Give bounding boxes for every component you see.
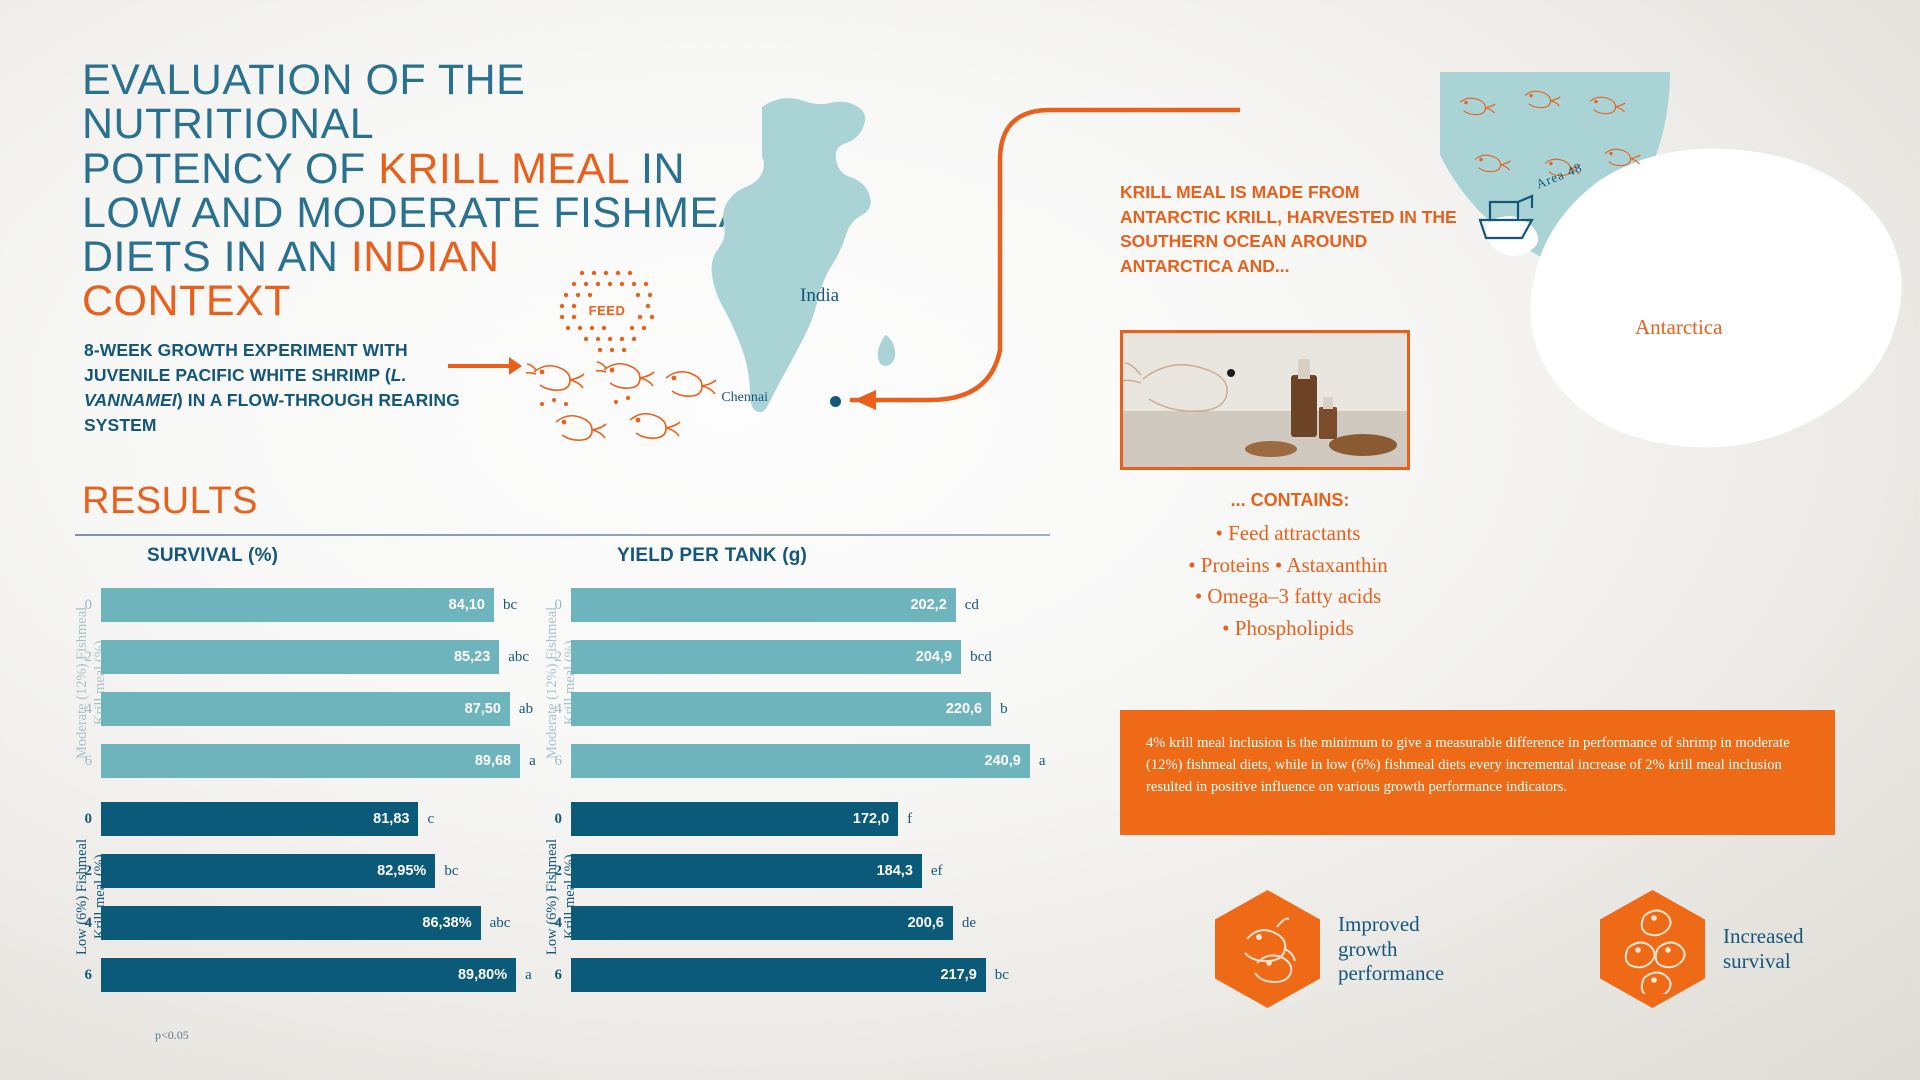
chart-survival-group-low: Low (6%) FishmealKrill meal (%) 0 81,83 … (75, 797, 545, 997)
krill-photo-content-icon (1123, 333, 1410, 470)
outcome-badges: Improvedgrowthperformance (1215, 890, 1915, 1020)
list-item: • Feed attractants (1098, 518, 1478, 550)
title-highlight-indian: INDIAN (351, 233, 500, 281)
significance-label: abc (508, 649, 529, 666)
chart-yield: YIELD PER TANK (g) Moderate (12%) Fishme… (545, 545, 1055, 1005)
bar-row: 2 184,3 ef (545, 849, 1055, 893)
significance-label: abc (490, 915, 511, 932)
significance-label: de (962, 915, 976, 932)
bar: 217,9 (571, 958, 986, 992)
tick-label: 4 (545, 915, 571, 932)
tick-label: 6 (545, 753, 571, 770)
bar-row: 0 172,0 f (545, 797, 1055, 841)
bar: 184,3 (571, 854, 922, 888)
map-label-antarctica: Antarctica (1635, 315, 1722, 340)
hexagon-shape (1215, 890, 1320, 1008)
p-value-note: p<0.05 (155, 1028, 189, 1043)
significance-label: ab (519, 701, 533, 718)
krill-meal-claim: KRILL MEAL IS MADE FROM ANTARCTIC KRILL,… (1120, 180, 1460, 278)
chart-yield-title: YIELD PER TANK (g) (617, 545, 1055, 567)
title-line-3: LOW AND MODERATE FISHMEAL (82, 189, 772, 237)
infographic-canvas: EVALUATION OF THE NUTRITIONAL POTENCY OF… (0, 0, 1920, 1080)
subhead-part-1: 8-WEEK GROWTH EXPERIMENT WITH JUVENILE P… (84, 340, 408, 385)
bar: 240,9 (571, 744, 1030, 778)
list-item: • Omega–3 fatty acids (1098, 581, 1478, 613)
significance-label: b (1000, 701, 1008, 718)
bar: 200,6 (571, 906, 953, 940)
bar-row: 4 220,6 b (545, 687, 1055, 731)
tick-label: 0 (75, 811, 101, 828)
bar: 82,95% (101, 854, 435, 888)
tick-label: 0 (545, 811, 571, 828)
bar-row: 6 217,9 bc (545, 953, 1055, 997)
title-line-2-a: POTENCY OF (82, 145, 378, 193)
tick-label: 6 (75, 967, 101, 984)
arrow-right-icon (448, 364, 510, 368)
conclusion-box: 4% krill meal inclusion is the minimum t… (1120, 710, 1835, 835)
results-heading: RESULTS (82, 480, 258, 523)
tick-label: 4 (75, 701, 101, 718)
tick-label: 0 (75, 597, 101, 614)
bar-row: 2 82,95% bc (75, 849, 545, 893)
krill-product-photo (1120, 330, 1410, 470)
bar-row: 4 200,6 de (545, 901, 1055, 945)
shrimp-trio-icon (1618, 904, 1688, 994)
bar-row: 4 86,38% abc (75, 901, 545, 945)
bar: 81,83 (101, 802, 418, 836)
tick-label: 6 (75, 753, 101, 770)
tick-label: 0 (545, 597, 571, 614)
significance-label: a (1039, 753, 1046, 770)
chart-survival-group-moderate: Moderate (12%) FishmealKrill meal (%) 0 … (75, 583, 545, 783)
badge-increased-survival: Increasedsurvival (1600, 890, 1803, 1008)
tick-label: 2 (75, 863, 101, 880)
significance-label: cd (965, 597, 979, 614)
tick-label: 4 (545, 701, 571, 718)
bar: 204,9 (571, 640, 961, 674)
bar: 202,2 (571, 588, 956, 622)
bar-row: 4 87,50 ab (75, 687, 545, 731)
significance-label: c (427, 811, 434, 828)
badge-label: Increasedsurvival (1723, 924, 1803, 974)
chart-survival: SURVIVAL (%) Moderate (12%) FishmealKril… (75, 545, 545, 1005)
bar: 89,80% (101, 958, 516, 992)
badge-label: Improvedgrowthperformance (1338, 912, 1444, 986)
significance-label: bc (995, 967, 1009, 984)
bar: 86,38% (101, 906, 481, 940)
significance-label: a (529, 753, 536, 770)
page-title: EVALUATION OF THE NUTRITIONAL POTENCY OF… (82, 58, 782, 324)
bar: 85,23 (101, 640, 499, 674)
tick-label: 6 (545, 967, 571, 984)
map-label-india: India (800, 285, 839, 307)
shrimp-pair-icon (1233, 909, 1303, 989)
tick-label: 2 (75, 649, 101, 666)
bar: 89,68 (101, 744, 520, 778)
chart-yield-group-moderate: Moderate (12%) FishmealKrill meal (%) 0 … (545, 583, 1055, 783)
bar: 172,0 (571, 802, 898, 836)
experiment-subheading: 8-WEEK GROWTH EXPERIMENT WITH JUVENILE P… (84, 338, 484, 437)
title-line-1: EVALUATION OF THE NUTRITIONAL (82, 56, 525, 148)
contains-list: • Feed attractants • Proteins • Astaxant… (1098, 518, 1478, 644)
bar: 84,10 (101, 588, 494, 622)
chart-survival-title: SURVIVAL (%) (147, 545, 545, 567)
list-item: • Phospholipids (1098, 613, 1478, 645)
hexagon-shape (1600, 890, 1705, 1008)
bar-row: 0 81,83 c (75, 797, 545, 841)
title-line-4-a: DIETS IN AN (82, 233, 351, 281)
map-label-chennai: Chennai (721, 390, 768, 406)
bar: 220,6 (571, 692, 991, 726)
feed-badge: FEED (552, 265, 662, 360)
bar-row: 6 240,9 a (545, 739, 1055, 783)
title-highlight-krill-meal: KRILL MEAL (378, 145, 628, 193)
significance-label: bc (444, 863, 458, 880)
tick-label: 2 (545, 863, 571, 880)
bar-row: 6 89,68 a (75, 739, 545, 783)
significance-label: bcd (970, 649, 992, 666)
feed-label: FEED (552, 303, 662, 318)
bar-row: 2 204,9 bcd (545, 635, 1055, 679)
bar-row: 6 89,80% a (75, 953, 545, 997)
significance-label: f (907, 811, 912, 828)
bar-row: 0 202,2 cd (545, 583, 1055, 627)
badge-improved-growth: Improvedgrowthperformance (1215, 890, 1444, 1008)
significance-label: ef (931, 863, 943, 880)
list-item: • Proteins • Astaxanthin (1098, 550, 1478, 582)
bar: 87,50 (101, 692, 510, 726)
bar-row: 2 85,23 abc (75, 635, 545, 679)
bar-row: 0 84,10 bc (75, 583, 545, 627)
contains-heading: ... CONTAINS: (1120, 490, 1460, 511)
section-divider (75, 534, 1050, 536)
antarctica-map-icon (1420, 60, 1920, 500)
tick-label: 4 (75, 915, 101, 932)
tick-label: 2 (545, 649, 571, 666)
significance-label: bc (503, 597, 517, 614)
title-line-2-b: IN (629, 145, 685, 193)
title-highlight-context: CONTEXT (82, 277, 291, 325)
significance-label: a (525, 967, 532, 984)
chart-yield-group-low: Low (6%) FishmealKrill meal (%) 0 172,0 … (545, 797, 1055, 997)
